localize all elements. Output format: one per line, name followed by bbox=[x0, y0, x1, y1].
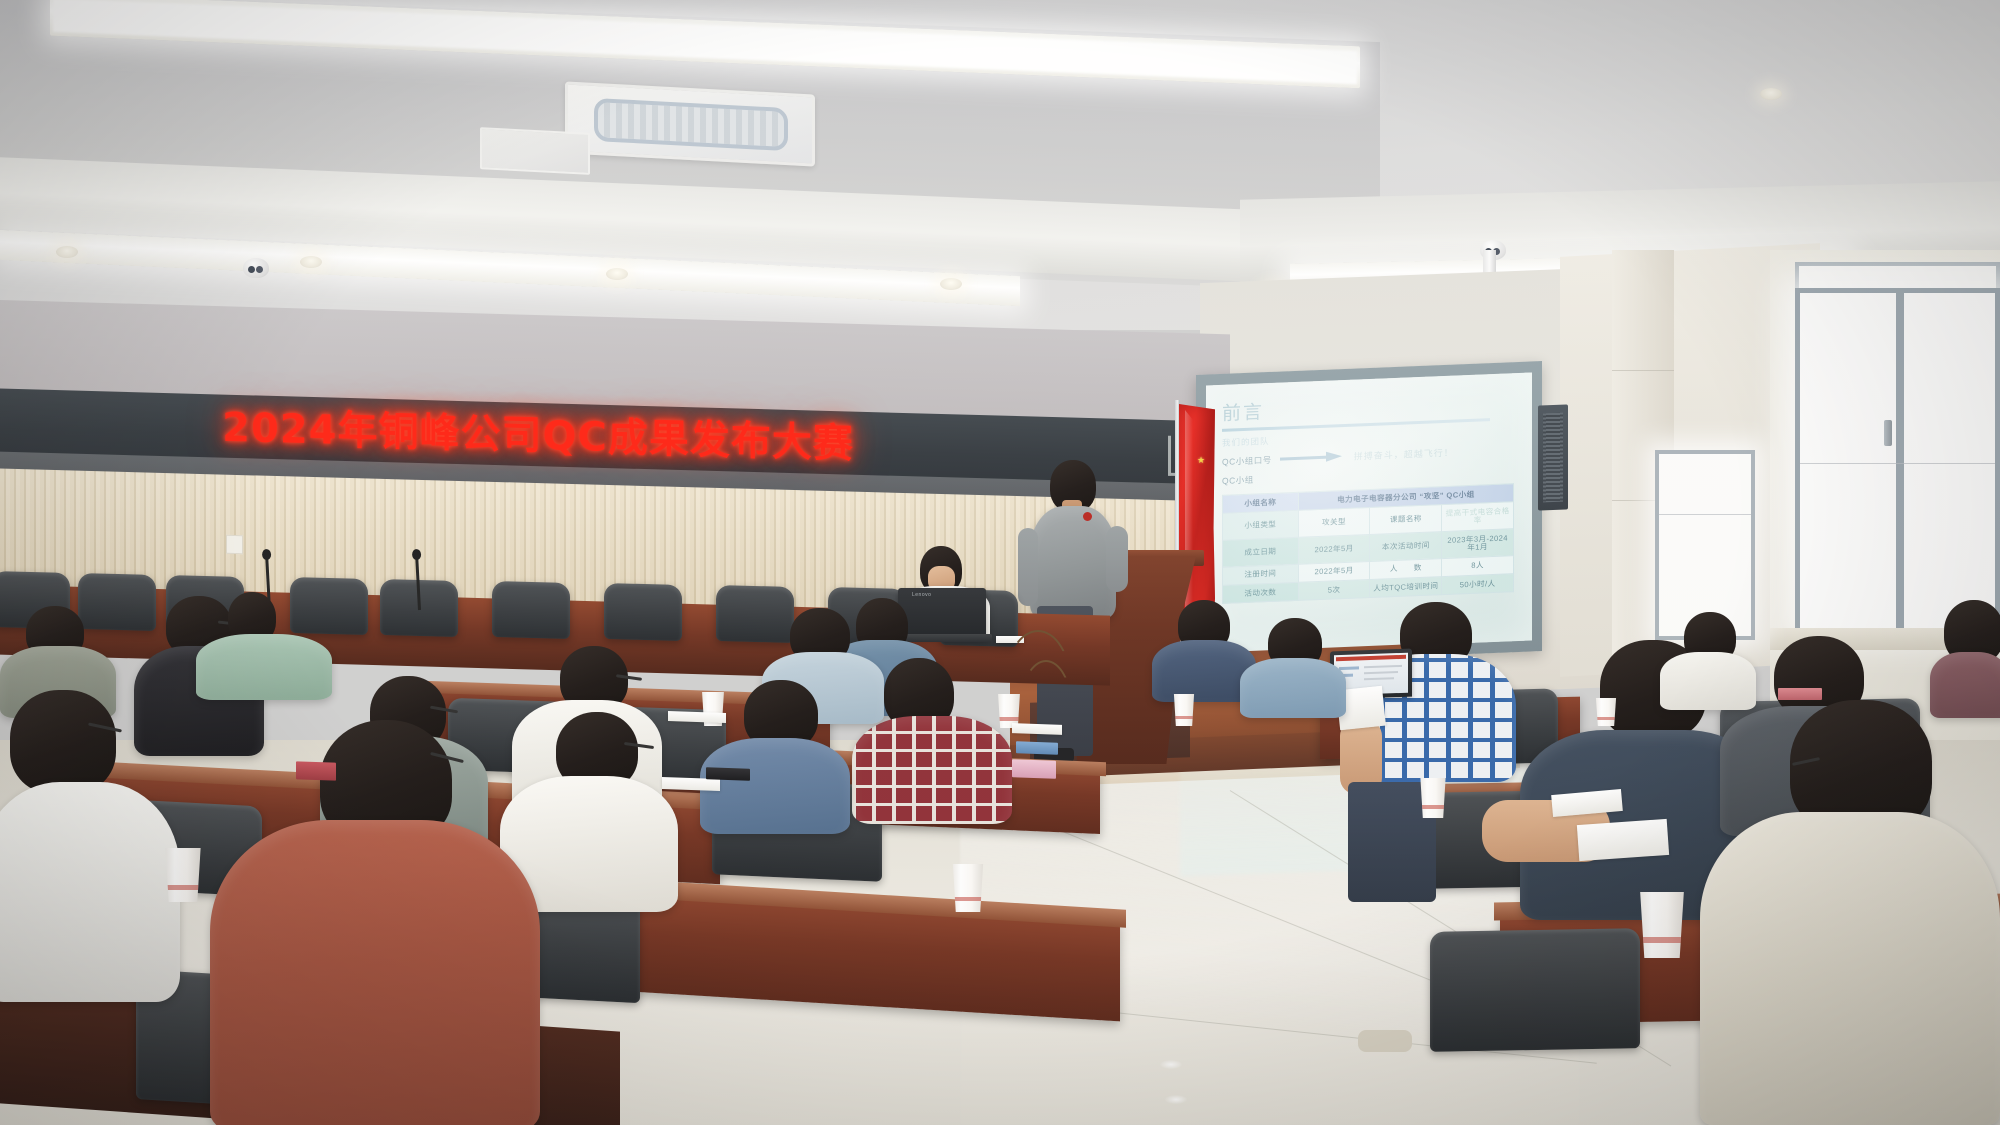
conference-room-photo: 2024年铜峰公司QC成果发布大赛 前言 我们的团队 QC小组口号 拼搏奋斗，超… bbox=[0, 0, 2000, 1125]
ceiling-access-panel bbox=[480, 127, 590, 175]
shirt bbox=[1240, 658, 1346, 718]
presenter-arm-left bbox=[1018, 528, 1038, 606]
wall-chair[interactable] bbox=[492, 581, 570, 639]
paper-cup[interactable] bbox=[1594, 698, 1618, 726]
arrow-icon bbox=[1280, 452, 1346, 464]
notebook bbox=[1778, 688, 1822, 700]
handout-paper bbox=[668, 711, 726, 723]
notebook bbox=[706, 767, 750, 781]
notebook bbox=[296, 761, 336, 780]
paper-cup[interactable] bbox=[1172, 694, 1196, 726]
wall-chair[interactable] bbox=[78, 573, 156, 631]
cell: 人均TQC培训时间 bbox=[1370, 577, 1442, 598]
flag-star: ★ bbox=[1197, 456, 1205, 465]
cell: 提高干式电容合格率 bbox=[1442, 502, 1514, 532]
presenter-badge bbox=[1083, 512, 1092, 521]
window-mullion bbox=[1896, 293, 1904, 628]
window-main bbox=[1795, 288, 2000, 633]
wall-chair[interactable] bbox=[716, 585, 794, 643]
paper-cup[interactable] bbox=[950, 864, 986, 912]
wall-speaker bbox=[1538, 404, 1568, 510]
slide-table: 小组名称 电力电子电容器分公司 “攻坚” QC小组 小组类型 攻关型 课题名称 … bbox=[1222, 483, 1514, 604]
presenter-shirt bbox=[1030, 506, 1116, 618]
tshirt bbox=[210, 820, 540, 1125]
floor-highlight bbox=[1160, 1060, 1182, 1069]
slide-slogan-text: 拼搏奋斗，超越飞行！ bbox=[1354, 446, 1454, 463]
cell: 活动次数 bbox=[1223, 582, 1299, 603]
shirt bbox=[700, 738, 850, 834]
cell: 小组类型 bbox=[1223, 511, 1299, 541]
cell: 2022年5月 bbox=[1298, 534, 1370, 564]
top bbox=[1930, 652, 2000, 718]
window-handle[interactable] bbox=[1884, 420, 1892, 446]
laptop-brand-label: Lenovo bbox=[912, 592, 940, 597]
handout-paper bbox=[1577, 819, 1669, 861]
shoe bbox=[1358, 1030, 1412, 1052]
blouse bbox=[0, 782, 180, 1002]
wall-chair[interactable] bbox=[604, 583, 682, 641]
wall-chair[interactable] bbox=[290, 577, 368, 635]
dome-camera-left bbox=[243, 258, 269, 278]
cell: 本次活动时间 bbox=[1370, 532, 1442, 562]
ceiling-spotlight bbox=[300, 256, 322, 268]
shirt bbox=[1660, 652, 1756, 710]
plaid-shirt bbox=[852, 716, 1012, 824]
notebook bbox=[1012, 759, 1056, 779]
slide-slogan-label: QC小组口号 bbox=[1222, 453, 1272, 467]
cell: 攻关型 bbox=[1298, 508, 1370, 538]
handout-paper bbox=[1012, 723, 1062, 735]
notebook bbox=[1016, 741, 1058, 754]
cell: 成立日期 bbox=[1223, 537, 1299, 567]
ceiling-spotlight bbox=[606, 268, 628, 280]
ceiling-spotlight bbox=[940, 278, 962, 290]
cell: 5次 bbox=[1298, 580, 1370, 601]
shirt bbox=[1700, 812, 2000, 1125]
wall-switch[interactable] bbox=[226, 535, 243, 554]
paper-cup[interactable] bbox=[1418, 778, 1448, 818]
floor-highlight bbox=[1165, 1095, 1187, 1104]
cell: 课题名称 bbox=[1370, 505, 1442, 535]
shirt bbox=[196, 634, 332, 700]
cell: 50小时/人 bbox=[1442, 574, 1514, 595]
head bbox=[10, 690, 116, 794]
projection-screen: 前言 我们的团队 QC小组口号 拼搏奋斗，超越飞行！ QC小组 小组名称 电力电… bbox=[1206, 372, 1532, 653]
ceiling-ac-vent bbox=[565, 81, 815, 166]
paper-cup[interactable] bbox=[162, 848, 204, 902]
cell: 2023年3月-2024年1月 bbox=[1442, 529, 1514, 559]
audience-chair-right-front[interactable] bbox=[1430, 928, 1640, 1052]
presenter-arm-right bbox=[1106, 526, 1128, 592]
paper-cup[interactable] bbox=[1636, 892, 1688, 958]
ceiling-spotlight bbox=[1760, 88, 1782, 100]
slide-group-label: QC小组 bbox=[1222, 463, 1520, 487]
slide-content: 前言 我们的团队 QC小组口号 拼搏奋斗，超越飞行！ QC小组 小组名称 电力电… bbox=[1206, 372, 1532, 653]
ceiling-spotlight bbox=[56, 246, 78, 258]
